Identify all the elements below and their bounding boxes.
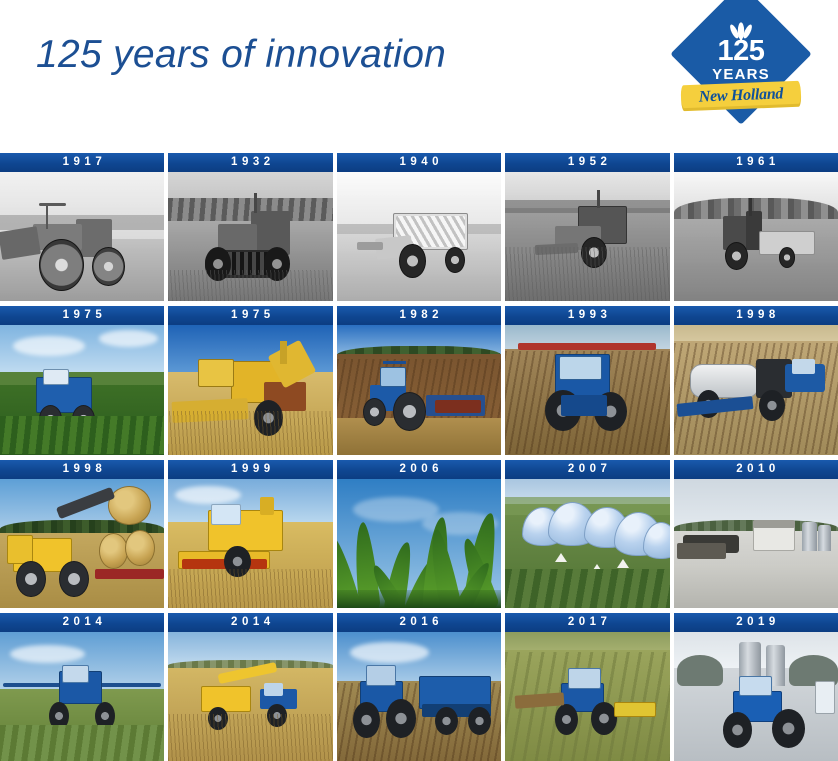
- timeline-year-label: 1932: [168, 153, 332, 172]
- timeline-photo: [505, 479, 669, 608]
- timeline-year-label: 1975: [168, 306, 332, 325]
- timeline-cell-1998-9[interactable]: 1998: [674, 306, 838, 454]
- logo-brand-name: New Holland: [681, 81, 802, 112]
- timeline-year-label: 2010: [674, 460, 838, 479]
- timeline-cell-1940-2[interactable]: 1940: [337, 153, 501, 301]
- timeline-cell-1998-10[interactable]: 1998: [0, 460, 164, 608]
- timeline-year-label: 2016: [337, 613, 501, 632]
- poster-page: 125 years of innovation 125 YEARS New Ho…: [0, 0, 838, 761]
- timeline-photo: [168, 172, 332, 301]
- timeline-photo: [674, 325, 838, 454]
- timeline-year-label: 2014: [168, 613, 332, 632]
- timeline-photo: [674, 172, 838, 301]
- timeline-photo: [505, 325, 669, 454]
- timeline-cell-1982-7[interactable]: 1982: [337, 306, 501, 454]
- timeline-photo: [0, 172, 164, 301]
- timeline-cell-1975-6[interactable]: 1975: [168, 306, 332, 454]
- timeline-year-label: 1998: [674, 306, 838, 325]
- timeline-cell-2017-18[interactable]: 2017: [505, 613, 669, 761]
- timeline-cell-2010-14[interactable]: 2010: [674, 460, 838, 608]
- timeline-photo: [337, 479, 501, 608]
- timeline-photo: [168, 632, 332, 761]
- timeline-photo: [505, 172, 669, 301]
- timeline-year-label: 1940: [337, 153, 501, 172]
- logo-content: 125 YEARS New Holland: [679, 4, 803, 128]
- timeline-year-label: 1961: [674, 153, 838, 172]
- timeline-cell-1975-5[interactable]: 1975: [0, 306, 164, 454]
- timeline-cell-2006-12[interactable]: 2006: [337, 460, 501, 608]
- timeline-photo: [337, 632, 501, 761]
- timeline-year-label: 1952: [505, 153, 669, 172]
- timeline-year-label: 1975: [0, 306, 164, 325]
- timeline-cell-2014-16[interactable]: 2014: [168, 613, 332, 761]
- timeline-photo: [337, 172, 501, 301]
- timeline-photo: [337, 325, 501, 454]
- timeline-photo: [505, 632, 669, 761]
- logo-ribbon-shape: New Holland: [681, 81, 802, 112]
- timeline-cell-1917-0[interactable]: 1917: [0, 153, 164, 301]
- timeline-year-label: 2007: [505, 460, 669, 479]
- timeline-cell-1993-8[interactable]: 1993: [505, 306, 669, 454]
- page-title: 125 years of innovation: [36, 33, 446, 77]
- timeline-grid: 1917193219401952196119751975198219931998…: [0, 153, 838, 761]
- timeline-cell-1961-4[interactable]: 1961: [674, 153, 838, 301]
- timeline-photo: [168, 479, 332, 608]
- timeline-photo: [0, 479, 164, 608]
- timeline-year-label: 1993: [505, 306, 669, 325]
- timeline-cell-1932-1[interactable]: 1932: [168, 153, 332, 301]
- timeline-year-label: 1999: [168, 460, 332, 479]
- new-holland-logo: 125 YEARS New Holland: [679, 4, 803, 128]
- timeline-photo: [168, 325, 332, 454]
- timeline-year-label: 1982: [337, 306, 501, 325]
- timeline-year-label: 2017: [505, 613, 669, 632]
- timeline-year-label: 2014: [0, 613, 164, 632]
- poster-header: 125 years of innovation 125 YEARS New Ho…: [0, 0, 838, 152]
- timeline-cell-2014-15[interactable]: 2014: [0, 613, 164, 761]
- timeline-year-label: 1998: [0, 460, 164, 479]
- timeline-photo: [0, 632, 164, 761]
- timeline-cell-2019-19[interactable]: 2019: [674, 613, 838, 761]
- timeline-cell-1999-11[interactable]: 1999: [168, 460, 332, 608]
- timeline-cell-1952-3[interactable]: 1952: [505, 153, 669, 301]
- timeline-year-label: 2019: [674, 613, 838, 632]
- timeline-photo: [674, 479, 838, 608]
- timeline-photo: [0, 325, 164, 454]
- logo-anniversary-number: 125: [718, 37, 765, 66]
- timeline-photo: [674, 632, 838, 761]
- timeline-cell-2007-13[interactable]: 2007: [505, 460, 669, 608]
- timeline-cell-2016-17[interactable]: 2016: [337, 613, 501, 761]
- timeline-year-label: 1917: [0, 153, 164, 172]
- logo-anniversary-unit: YEARS: [712, 67, 770, 82]
- timeline-year-label: 2006: [337, 460, 501, 479]
